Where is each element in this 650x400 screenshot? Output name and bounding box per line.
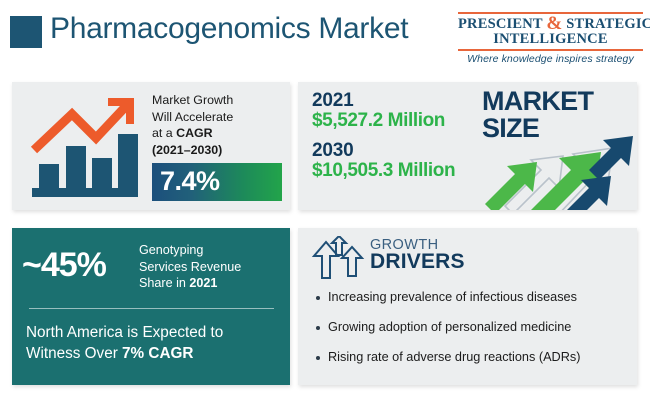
revenue-share-description: Genotyping Services Revenue Share in 202… bbox=[139, 242, 281, 292]
list-item: Growing adoption of personalized medicin… bbox=[314, 320, 626, 335]
share-divider bbox=[29, 308, 274, 309]
list-item: Increasing prevalence of infectious dise… bbox=[314, 290, 626, 305]
region-note-line-1: North America is Expected to bbox=[26, 322, 278, 343]
drivers-list: Increasing prevalence of infectious dise… bbox=[314, 290, 626, 380]
revenue-share-percent: ~45% bbox=[22, 246, 106, 285]
logo-strategic-text: STRATEGIC bbox=[562, 16, 650, 32]
brand-square-icon bbox=[10, 16, 42, 48]
market-size-year-2030: 2030 bbox=[312, 140, 353, 162]
growth-line-1: Market Growth bbox=[152, 92, 284, 109]
growth-line-4: (2021–2030) bbox=[152, 142, 284, 159]
infographic-page: Pharmacogenomics Market PRESCIENT & STRA… bbox=[0, 0, 650, 400]
market-size-value-2030: $10,505.3 Million bbox=[312, 160, 455, 182]
market-size-value-2021: $5,527.2 Million bbox=[312, 110, 445, 132]
company-logo: PRESCIENT & STRATEGIC INTELLIGENCE Where… bbox=[458, 12, 643, 65]
growth-cagr-label: CAGR bbox=[176, 126, 212, 140]
logo-bottom-rule bbox=[458, 49, 643, 51]
share-line-1: Genotyping bbox=[139, 242, 281, 259]
upward-arrows-icon bbox=[485, 118, 635, 210]
market-size-heading-line1: MARKET bbox=[482, 88, 593, 115]
market-growth-panel: Market Growth Will Accelerate at a CAGR … bbox=[12, 82, 290, 210]
page-title: Pharmacogenomics Market bbox=[50, 12, 408, 46]
region-note-pre: Witness Over bbox=[26, 345, 122, 362]
share-line-2: Services Revenue bbox=[139, 259, 281, 276]
logo-tagline: Where knowledge inspires strategy bbox=[458, 53, 643, 65]
growth-line-3-pre: at a bbox=[152, 126, 176, 140]
logo-prescient-text: PRESCIENT bbox=[458, 16, 546, 32]
growth-drivers-panel: GROWTH DRIVERS Increasing prevalence of … bbox=[298, 228, 637, 385]
share-line-3: Share in 2021 bbox=[139, 275, 281, 292]
market-size-panel: 2021 $5,527.2 Million 2030 $10,505.3 Mil… bbox=[298, 82, 637, 210]
region-cagr: 7% CAGR bbox=[122, 345, 193, 362]
share-year: 2021 bbox=[189, 276, 217, 290]
logo-line-2: INTELLIGENCE bbox=[458, 32, 643, 47]
growth-description: Market Growth Will Accelerate at a CAGR … bbox=[152, 92, 284, 158]
drivers-heading-large: DRIVERS bbox=[370, 250, 465, 274]
growth-line-2: Will Accelerate bbox=[152, 109, 284, 126]
cagr-value: 7.4% bbox=[160, 166, 220, 197]
revenue-share-panel: ~45% Genotyping Services Revenue Share i… bbox=[12, 228, 290, 385]
list-item: Rising rate of adverse drug reactions (A… bbox=[314, 350, 626, 365]
up-arrows-growth-icon bbox=[310, 236, 368, 280]
growth-line-3: at a CAGR bbox=[152, 125, 284, 142]
growth-period: (2021–2030) bbox=[152, 143, 222, 157]
cagr-value-bar: 7.4% bbox=[152, 163, 282, 201]
logo-line-1: PRESCIENT & STRATEGIC bbox=[458, 16, 643, 32]
market-size-year-2021: 2021 bbox=[312, 90, 353, 112]
share-line-3-pre: Share in bbox=[139, 276, 189, 290]
region-note-line-2: Witness Over 7% CAGR bbox=[26, 343, 278, 364]
header: Pharmacogenomics Market PRESCIENT & STRA… bbox=[0, 0, 650, 72]
bar-chart-growth-icon bbox=[28, 92, 142, 200]
region-note: North America is Expected to Witness Ove… bbox=[26, 322, 278, 364]
